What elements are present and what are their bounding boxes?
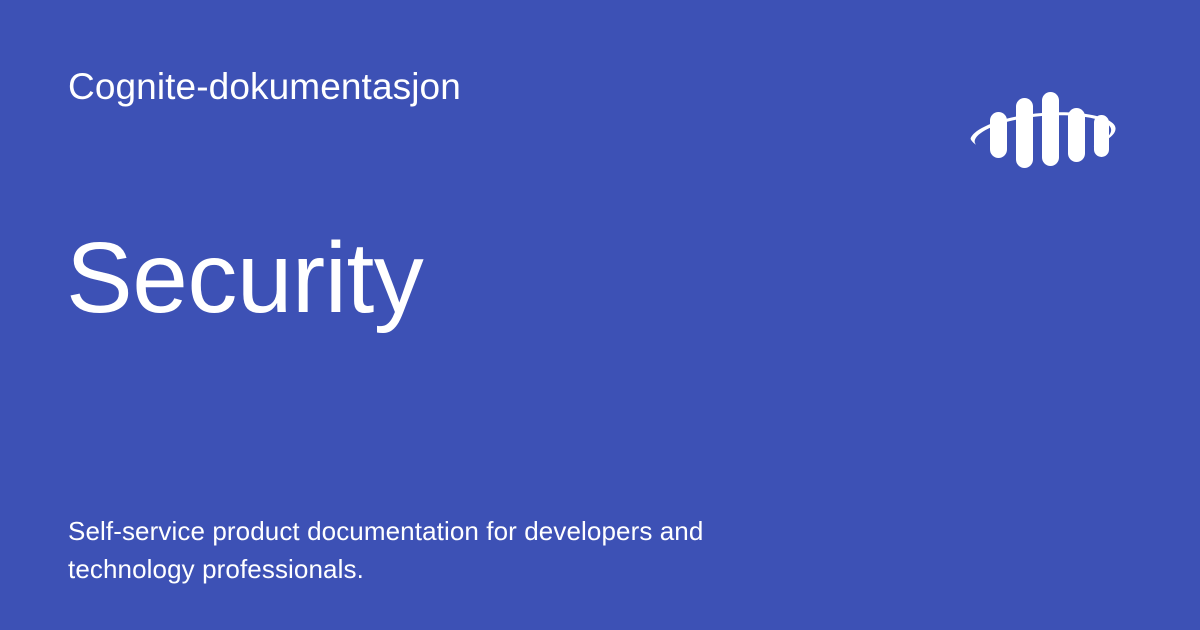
- subtitle-line-1: Self-service product documentation for d…: [68, 512, 858, 550]
- cognite-logo: [968, 90, 1128, 170]
- subtitle-line-2: technology professionals.: [68, 550, 858, 588]
- social-card: Cognite-dokumentasjon Security Self-serv…: [0, 0, 1200, 630]
- subtitle: Self-service product documentation for d…: [68, 512, 858, 588]
- logo-bars: [990, 92, 1109, 168]
- eyebrow-label: Cognite-dokumentasjon: [68, 68, 461, 105]
- page-title: Security: [66, 225, 423, 331]
